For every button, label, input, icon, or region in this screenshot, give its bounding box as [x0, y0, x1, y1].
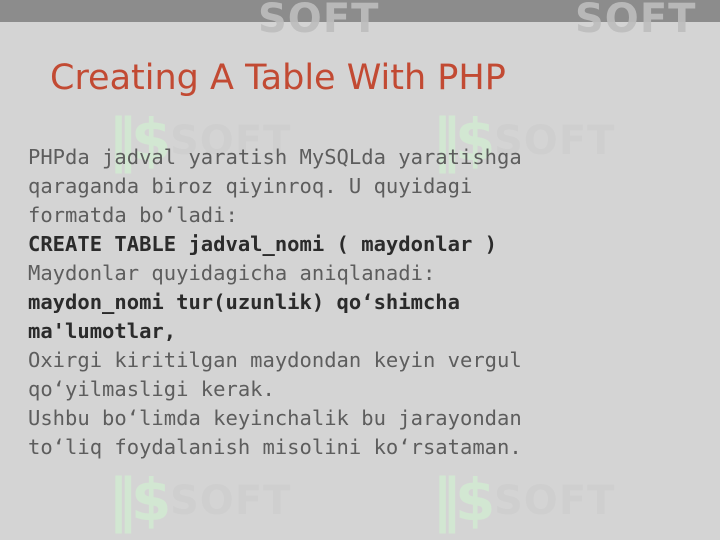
body-line: formatda bo‘ladi:	[28, 201, 688, 230]
watermark-glyph-bottom-center: ‖$	[432, 466, 489, 534]
body-line-field-syntax: maydon_nomi tur(uzunlik) qo‘shimcha	[28, 288, 688, 317]
body-line: qaraganda biroz qiyinroq. U quyidagi	[28, 172, 688, 201]
body-line-field-syntax-cont: ma'lumotlar,	[28, 317, 688, 346]
body-line-create-table: CREATE TABLE jadval_nomi ( maydonlar )	[28, 230, 688, 259]
slide-title: Creating A Table With PHP	[50, 58, 506, 98]
body-line: PHPda jadval yaratish MySQLda yaratishga	[28, 143, 688, 172]
watermark-text-bottom-center: SOFT	[494, 478, 615, 524]
slide-body: PHPda jadval yaratish MySQLda yaratishga…	[28, 143, 688, 462]
body-line: to‘liq foydalanish misolini ko‘rsataman.	[28, 433, 688, 462]
body-line: Maydonlar quyidagicha aniqlanadi:	[28, 259, 688, 288]
watermark-glyph-bottom-left: ‖$	[108, 466, 165, 534]
watermark-text-bottom-left: SOFT	[170, 478, 291, 524]
slide-canvas: SOFT SOFT ‖$ ‖$ SOFT SOFT ‖$ ‖$ SOFT SOF…	[0, 0, 720, 540]
body-line: Ushbu bo‘limda keyinchalik bu jarayondan	[28, 404, 688, 433]
slide-top-bar	[0, 0, 720, 22]
body-line: qo‘yilmasligi kerak.	[28, 375, 688, 404]
body-line: Oxirgi kiritilgan maydondan keyin vergul	[28, 346, 688, 375]
